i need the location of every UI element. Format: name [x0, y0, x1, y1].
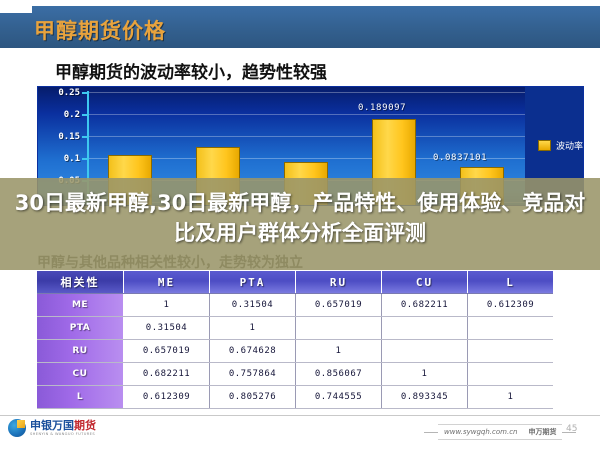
table-row-header-me: ME: [37, 294, 124, 317]
table-cell: 0.31504: [210, 294, 296, 317]
table-cell: [382, 317, 468, 340]
gridline: [88, 114, 525, 115]
footer-website-url: www.sywgqh.com.cn: [444, 428, 517, 436]
logo-text-block: 申银万国期货 SHENYIN & WANGUO FUTURES: [30, 420, 96, 437]
table-cell: 1: [124, 294, 210, 317]
table-cell: 0.682211: [382, 294, 468, 317]
table-row: PTA 0.31504 1: [37, 317, 553, 340]
table-cell: 0.744555: [296, 386, 382, 409]
legend-label-volatility: 波动率: [556, 139, 583, 152]
y-axis-label: 0.1: [40, 154, 80, 164]
footer-divider: [0, 415, 600, 416]
table-cell: 0.657019: [296, 294, 382, 317]
slide-banner: 甲醇期货价格: [0, 6, 600, 48]
correlation-matrix-table: 相关性 ME PTA RU CU L ME 1 0.31504 0.657019…: [37, 271, 553, 409]
page-number: 45: [566, 424, 577, 434]
table-cell: 1: [468, 386, 554, 409]
gridline: [88, 92, 525, 93]
section-heading-volatility: 甲醇期货的波动率较小，趋势性较强: [55, 58, 327, 83]
table-row: ME 1 0.31504 0.657019 0.682211 0.612309: [37, 294, 553, 317]
logo-name-en: SHENYIN & WANGUO FUTURES: [30, 433, 96, 437]
y-axis-tick: [82, 158, 89, 160]
table-cell: 0.893345: [382, 386, 468, 409]
table-cell: [296, 317, 382, 340]
table-col-header-l: L: [468, 271, 554, 294]
table-cell: 1: [382, 363, 468, 386]
logo-name-cn-blue: 申银万国: [30, 419, 74, 432]
footer-brand-cn: 申万期货: [528, 427, 556, 437]
table-row-header-cu: CU: [37, 363, 124, 386]
bar-value-label-l: 0.0837101: [433, 153, 487, 163]
logo-name-cn: 申银万国期货: [30, 420, 96, 431]
table-cell: 0.612309: [124, 386, 210, 409]
gridline: [88, 136, 525, 137]
table-row: RU 0.657019 0.674628 1: [37, 340, 553, 363]
table-cell: 1: [296, 340, 382, 363]
y-axis-tick: [82, 114, 89, 116]
table-col-header-me: ME: [124, 271, 210, 294]
page-title: 甲醇期货价格: [34, 15, 166, 45]
table-row: L 0.612309 0.805276 0.744555 0.893345 1: [37, 386, 553, 409]
table-row: CU 0.682211 0.757864 0.856067 1: [37, 363, 553, 386]
table-cell: [468, 363, 554, 386]
y-axis-tick: [82, 92, 89, 94]
overlay-caption-text: 30日最新甲醇,30日最新甲醇，产品特性、使用体验、竞品对比及用户群体分析全面评…: [0, 188, 600, 248]
table-cell: 1: [210, 317, 296, 340]
table-cell: 0.757864: [210, 363, 296, 386]
table-cell: 0.674628: [210, 340, 296, 363]
footer-brand-box: www.sywgqh.com.cn 申万期货: [424, 424, 576, 440]
logo-name-cn-red: 期货: [74, 419, 96, 432]
table-cell: 0.657019: [124, 340, 210, 363]
table-cell: [468, 317, 554, 340]
table-cell: 0.612309: [468, 294, 554, 317]
chart-legend: 波动率: [538, 139, 583, 152]
footer-inner-box: www.sywgqh.com.cn 申万期货: [438, 424, 562, 440]
table-row-header-ru: RU: [37, 340, 124, 363]
footer-dash-left: [424, 432, 438, 433]
banner-notch: [0, 6, 32, 13]
y-axis-label: 0.15: [40, 132, 80, 142]
table-row-header-l: L: [37, 386, 124, 409]
y-axis-label: 0.25: [40, 88, 80, 98]
table-cell: [468, 340, 554, 363]
company-logo: 申银万国期货 SHENYIN & WANGUO FUTURES: [8, 419, 96, 437]
table-cell: 0.31504: [124, 317, 210, 340]
table-cell: [382, 340, 468, 363]
table-col-header-pta: PTA: [210, 271, 296, 294]
y-axis-label: 0.2: [40, 110, 80, 120]
table-header-row: 相关性 ME PTA RU CU L: [37, 271, 553, 294]
slide-canvas: 甲醇期货价格 甲醇期货的波动率较小，趋势性较强 0.25 0.2 0.15 0.…: [0, 0, 600, 450]
bar-value-label-cu: 0.189097: [358, 103, 406, 113]
table-col-header-ru: RU: [296, 271, 382, 294]
table-cell: 0.856067: [296, 363, 382, 386]
table-cell: 0.805276: [210, 386, 296, 409]
table-corner-header: 相关性: [37, 271, 124, 294]
table-col-header-cu: CU: [382, 271, 468, 294]
table-cell: 0.682211: [124, 363, 210, 386]
logo-mark-icon: [8, 419, 26, 437]
legend-swatch-icon: [538, 140, 551, 151]
y-axis-tick: [82, 136, 89, 138]
table-row-header-pta: PTA: [37, 317, 124, 340]
